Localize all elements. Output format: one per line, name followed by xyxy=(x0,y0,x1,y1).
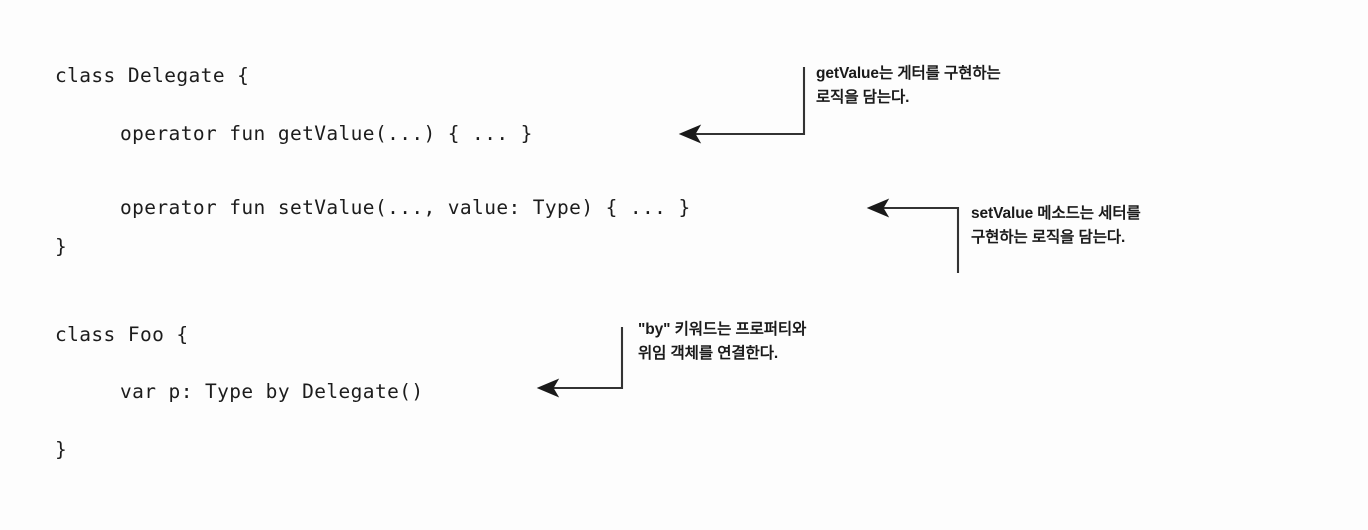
annotation-by-line-1: "by" 키워드는 프로퍼티와 xyxy=(638,318,806,342)
code-line-getvalue: operator fun getValue(...) { ... } xyxy=(120,124,533,144)
annotation-setvalue: setValue 메소드는 세터를 구현하는 로직을 담는다. xyxy=(971,202,1141,250)
code-line-class-delegate: class Delegate { xyxy=(55,66,249,86)
code-line-close-delegate: } xyxy=(55,237,67,257)
code-line-class-foo: class Foo { xyxy=(55,325,189,345)
leader-path-getvalue xyxy=(692,68,804,134)
annotation-by-line-2: 위임 객체를 연결한다. xyxy=(638,342,806,366)
annotation-getvalue: getValue는 게터를 구현하는 로직을 담는다. xyxy=(816,62,1001,110)
annotation-by-keyword: "by" 키워드는 프로퍼티와 위임 객체를 연결한다. xyxy=(638,318,806,366)
code-line-setvalue: operator fun setValue(..., value: Type) … xyxy=(120,198,691,218)
leader-line-getvalue xyxy=(670,60,820,150)
code-line-close-foo: } xyxy=(55,440,67,460)
code-line-var-p: var p: Type by Delegate() xyxy=(120,382,424,402)
leader-line-by xyxy=(528,320,633,400)
leader-line-setvalue xyxy=(860,198,970,283)
annotation-setvalue-line-2: 구현하는 로직을 담는다. xyxy=(971,226,1141,250)
leader-path-by xyxy=(550,328,622,388)
annotation-setvalue-line-1: setValue 메소드는 세터를 xyxy=(971,202,1141,226)
annotation-getvalue-line-2: 로직을 담는다. xyxy=(816,86,1001,110)
annotation-getvalue-line-1: getValue는 게터를 구현하는 xyxy=(816,62,1001,86)
leader-path-setvalue xyxy=(880,208,958,272)
code-annotation-figure: class Delegate { operator fun getValue(.… xyxy=(0,0,1368,530)
